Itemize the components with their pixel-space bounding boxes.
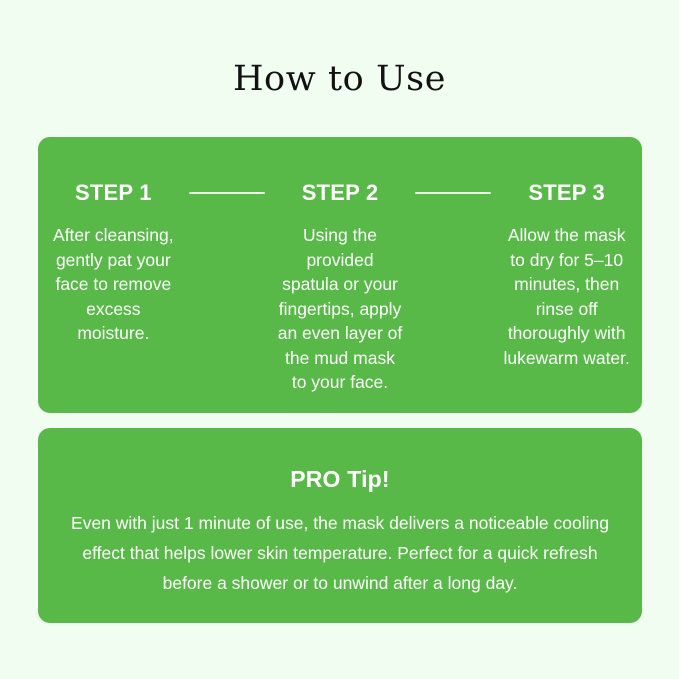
protip-card: PRO Tip! Even with just 1 minute of use,…: [38, 428, 642, 623]
steps-header-row: STEP 1 STEP 2 STEP 3: [38, 180, 642, 206]
step-description-1: After cleansing, gently pat your face to…: [38, 223, 189, 346]
step-description-3: Allow the mask to dry for 5–10 minutes, …: [491, 223, 642, 370]
protip-description: Even with just 1 minute of use, the mask…: [38, 508, 642, 598]
step-label-2: STEP 2: [265, 180, 416, 206]
steps-card: STEP 1 STEP 2 STEP 3 After cleansing, ge…: [38, 137, 642, 413]
step-divider-icon-2: [415, 192, 491, 194]
page-title: How to Use: [0, 57, 679, 101]
step-label-1: STEP 1: [38, 180, 189, 206]
step-label-3: STEP 3: [491, 180, 642, 206]
step-divider-icon-1: [189, 192, 265, 194]
steps-body-row: After cleansing, gently pat your face to…: [38, 223, 642, 395]
how-to-use-page: How to Use STEP 1 STEP 2 STEP 3 After cl…: [0, 0, 679, 679]
protip-title: PRO Tip!: [38, 466, 642, 493]
step-description-2: Using the provided spatula or your finge…: [265, 223, 416, 395]
